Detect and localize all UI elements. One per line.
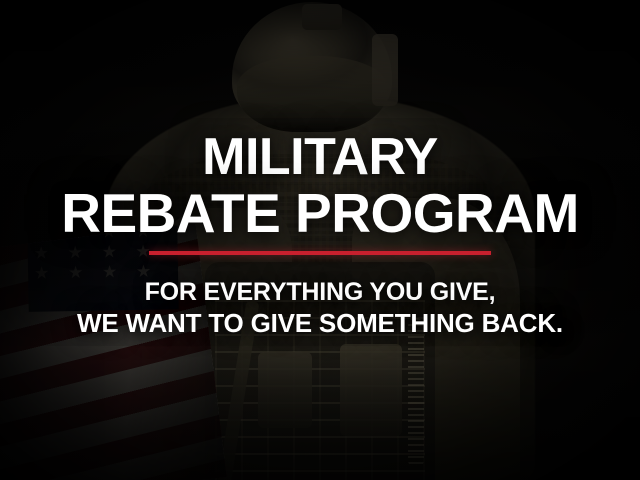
subtitle-line-1: FOR EVERYTHING YOU GIVE, (145, 278, 496, 306)
red-divider-rule (149, 251, 491, 255)
headline-line-2: REBATE PROGRAM (0, 185, 640, 241)
poster-content: MILITARY REBATE PROGRAM FOR EVERYTHING Y… (0, 0, 640, 480)
subtitle-line-2: WE WANT TO GIVE SOMETHING BACK. (0, 308, 640, 339)
poster-subtitle: FOR EVERYTHING YOU GIVE, WE WANT TO GIVE… (0, 277, 640, 339)
headline-line-1: MILITARY (202, 128, 438, 186)
military-rebate-poster: ★ ★ ★ ★ ★ ★ ★ ★ ★ ★ ★ ★ MILITARY REBATE … (0, 0, 640, 480)
page-title: MILITARY REBATE PROGRAM (0, 129, 640, 241)
